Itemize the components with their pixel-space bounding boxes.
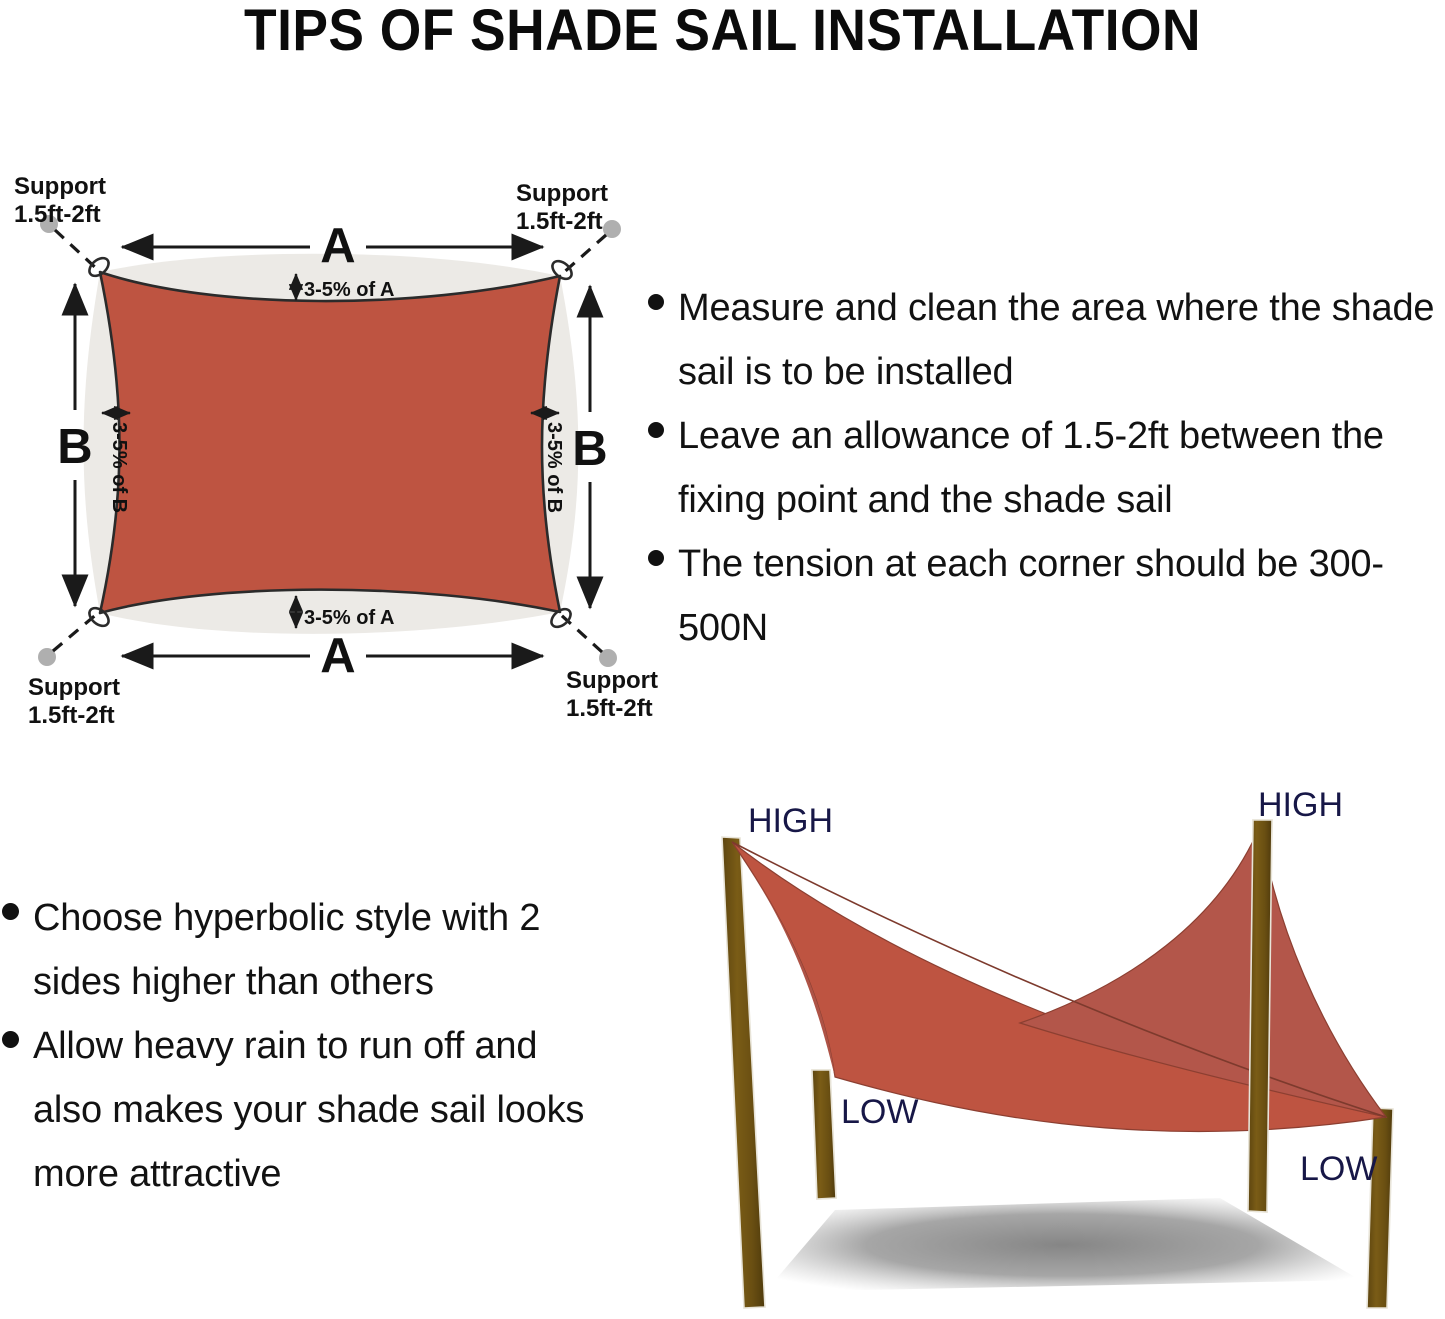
list-item-label: Leave an allowance of 1.5-2ft between th… <box>678 404 1445 532</box>
curvature-label-left: 3-5% of B <box>108 422 130 513</box>
label-low-right: LOW <box>1300 1150 1377 1188</box>
list-item-label: The tension at each corner should be 300… <box>678 532 1445 660</box>
label-low-left: LOW <box>841 1093 918 1131</box>
bullet-dot-icon <box>2 903 19 920</box>
support-label-bottom-right-line2: 1.5ft-2ft <box>566 695 653 722</box>
list-item: The tension at each corner should be 300… <box>648 532 1445 660</box>
label-high-right: HIGH <box>1258 786 1343 824</box>
support-label-top-right-line2: 1.5ft-2ft <box>516 208 603 235</box>
support-label-bottom-right-line1: Support <box>566 667 658 694</box>
dimension-label-right-B: B <box>572 422 607 476</box>
bullet-dot-icon <box>648 550 664 566</box>
page-title: TIPS OF SHADE SAIL INSTALLATION <box>58 0 1387 62</box>
post-low-left-front <box>812 1070 836 1199</box>
support-label-bottom-left-line2: 1.5ft-2ft <box>28 702 115 729</box>
dimension-label-left-B: B <box>57 420 92 474</box>
support-label-bottom-left-line1: Support <box>28 674 120 701</box>
list-item: Leave an allowance of 1.5-2ft between th… <box>648 404 1445 532</box>
bullet-dot-icon <box>648 294 664 310</box>
installation-tips-list: Measure and clean the area where the sha… <box>648 276 1445 660</box>
post-high-left <box>722 837 765 1308</box>
post-high-right-front <box>1248 820 1272 1212</box>
hyperbolic-style-tips-list: Choose hyperbolic style with 2 sides hig… <box>2 886 622 1206</box>
rectangular-shade-sail-dimension-diagram: A 3-5% of A A 3-5% of A B 3-5% of B B 3-… <box>0 150 660 740</box>
hyperbolic-shade-sail-illustration: HIGH HIGH LOW LOW <box>660 780 1445 1319</box>
list-item-label: Choose hyperbolic style with 2 sides hig… <box>33 886 613 1014</box>
curvature-label-right: 3-5% of B <box>543 422 565 513</box>
bullet-dot-icon <box>2 1031 19 1048</box>
list-item: Allow heavy rain to run off and also mak… <box>2 1014 622 1206</box>
curvature-label-top: 3-5% of A <box>304 279 394 301</box>
post-low-right <box>1367 1108 1393 1308</box>
bullet-dot-icon <box>648 422 664 438</box>
curvature-label-bottom: 3-5% of A <box>304 607 394 629</box>
tether-line-bottom-right <box>560 614 602 652</box>
support-label-top-left-line1: Support <box>14 173 106 200</box>
list-item-label: Allow heavy rain to run off and also mak… <box>33 1014 613 1206</box>
list-item-label: Measure and clean the area where the sha… <box>678 276 1445 404</box>
infographic-page: TIPS OF SHADE SAIL INSTALLATION <box>0 0 1445 1319</box>
dimension-label-top-A: A <box>320 219 355 273</box>
support-label-top-left-line2: 1.5ft-2ft <box>14 201 101 228</box>
support-label-top-right-line1: Support <box>516 180 608 207</box>
list-item: Choose hyperbolic style with 2 sides hig… <box>2 886 622 1014</box>
ground-shadow <box>765 1198 1360 1292</box>
dimension-label-bottom-A: A <box>320 629 355 683</box>
label-high-left: HIGH <box>748 802 833 840</box>
list-item: Measure and clean the area where the sha… <box>648 276 1445 404</box>
shade-sail-fabric <box>100 272 560 613</box>
